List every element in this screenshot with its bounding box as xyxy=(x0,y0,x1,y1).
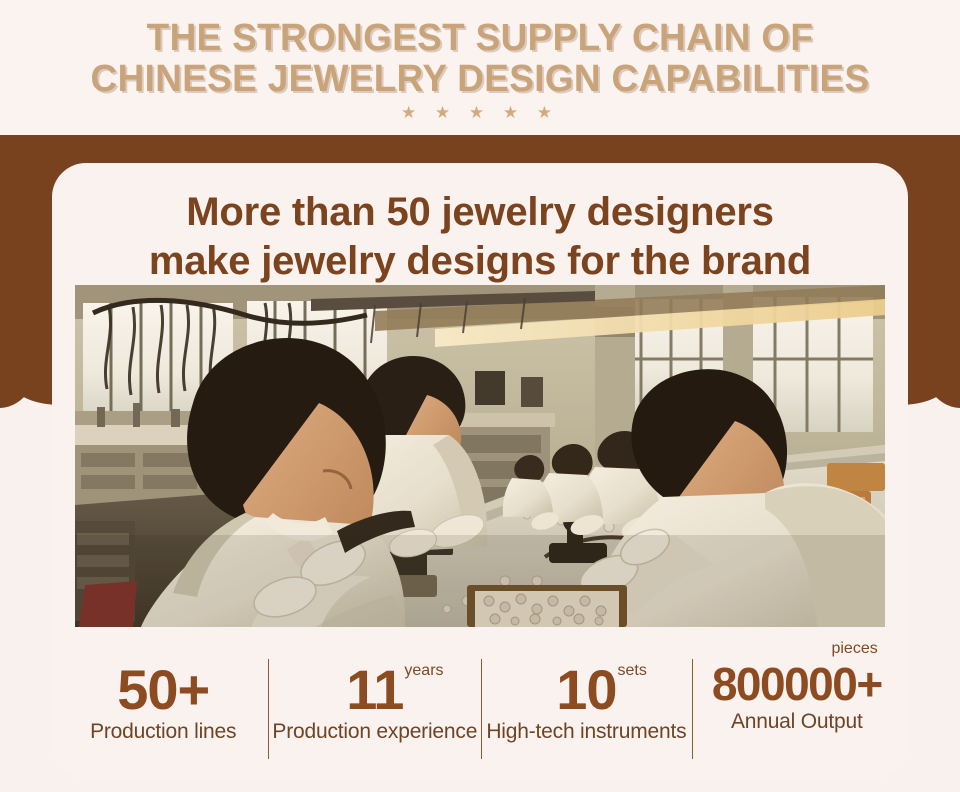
stat-value: 11 years xyxy=(346,661,403,718)
stat-unit: years xyxy=(404,663,443,679)
star-rating-icons: ★ ★ ★ ★ ★ xyxy=(0,104,960,121)
stat-number: 10 xyxy=(556,658,616,721)
stat-number: 800000+ xyxy=(712,658,882,710)
workshop-photo-illustration xyxy=(75,285,885,627)
page-title-line-1: THE STRONGEST SUPPLY CHAIN OF xyxy=(147,17,814,59)
header-banner: THE STRONGEST SUPPLY CHAIN OF CHINESE JE… xyxy=(0,0,960,135)
stat-item-annual-output: 800000+ pieces Annual Output xyxy=(692,653,902,734)
stat-unit: pieces xyxy=(831,641,877,657)
stat-unit: sets xyxy=(618,663,647,679)
card-heading-line-1: More than 50 jewelry designers xyxy=(186,190,774,234)
stat-item-production-lines: 50+ Production lines xyxy=(58,653,268,744)
stat-number: 50+ xyxy=(117,658,209,721)
stat-label: High-tech instruments xyxy=(485,720,687,744)
card-heading-line-2: make jewelry designs for the brand xyxy=(52,237,908,286)
page-title-line-2: CHINESE JEWELRY DESIGN CAPABILITIES xyxy=(14,59,945,100)
feature-card: More than 50 jewelry designers make jewe… xyxy=(52,163,908,778)
stats-row: 50+ Production lines 11 years Production… xyxy=(52,653,908,773)
stat-label: Production experience xyxy=(272,720,477,744)
page-title: THE STRONGEST SUPPLY CHAIN OF CHINESE JE… xyxy=(14,0,945,100)
stat-value: 10 sets xyxy=(556,661,616,718)
stat-item-high-tech-instruments: 10 sets High-tech instruments xyxy=(481,653,691,744)
stat-label: Production lines xyxy=(62,720,264,744)
stat-value: 50+ xyxy=(117,661,209,718)
stat-number: 11 xyxy=(346,658,403,721)
stat-value: 800000+ pieces xyxy=(712,661,882,708)
stat-item-production-experience: 11 years Production experience xyxy=(268,653,481,744)
card-heading: More than 50 jewelry designers make jewe… xyxy=(52,163,908,286)
stat-label: Annual Output xyxy=(696,710,898,734)
workshop-photo xyxy=(75,285,885,627)
